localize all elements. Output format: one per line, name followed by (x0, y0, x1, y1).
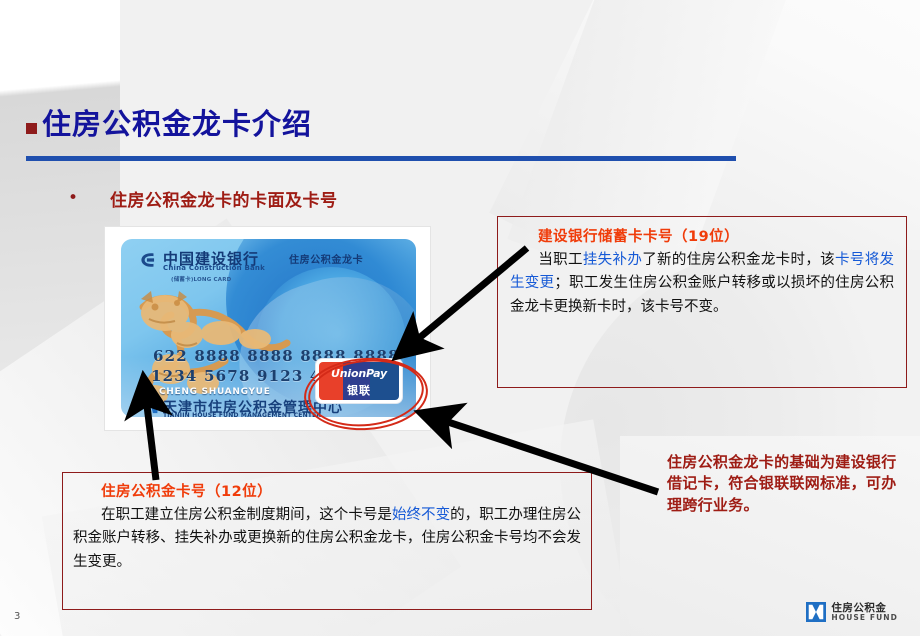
section-bullet-row: • 住房公积金龙卡的卡面及卡号 (68, 186, 338, 211)
footer-house-fund-logo: 住房公积金 HOUSE FUND (806, 602, 898, 622)
card-product-name: 住房公积金龙卡 (289, 251, 363, 266)
slide-title-row: 住房公积金龙卡介绍 (26, 110, 312, 139)
callout-bottom-body: 在职工建立住房公积金制度期间，这个卡号是始终不变的，职工办理住房公积金账户转移、… (73, 504, 581, 574)
footer-logo-text-cn: 住房公积金 (831, 603, 898, 614)
title-square-bullet-icon (26, 123, 37, 134)
card-photo-frame: 中国建设银行 China Construction Bank (储蓄卡)LONG… (105, 227, 430, 430)
callout-bottom-heading: 住房公积金卡号（12位） (101, 480, 581, 501)
card-holder-name: CHENG SHUANGYUE (159, 387, 271, 397)
callout-box-fund-card-number: 住房公积金卡号（12位） 在职工建立住房公积金制度期间，这个卡号是始终不变的，职… (62, 472, 592, 610)
house-fund-mark-icon (143, 395, 161, 415)
house-fund-logo-icon (806, 602, 826, 622)
page-number: 3 (14, 611, 20, 622)
ccb-logo-icon (137, 249, 159, 271)
bullet-dot-icon: • (68, 190, 78, 207)
unionpay-red-note: 住房公积金龙卡的基础为建设银行借记卡，符合银联联网标准，可办理跨行业务。 (667, 452, 902, 516)
card-bank-name-en: China Construction Bank (163, 264, 265, 272)
card-issuer-center-en: TIANJIN HOUSE FUND MANAGEMENT CENTER (163, 412, 321, 417)
callout-box-debit-card-number: 建设银行储蓄卡卡号（19位） 当职工挂失补办了新的住房公积金龙卡时，该卡号将发生… (497, 216, 907, 388)
callout-right-heading: 建设银行储蓄卡卡号（19位） (538, 225, 894, 246)
footer-logo-text-en: HOUSE FUND (831, 614, 898, 622)
callout-right-rich-text: 当职工挂失补办了新的住房公积金龙卡时，该卡号将发生变更；职工发生住房公积金账户转… (510, 252, 894, 315)
callout-bottom-rich-text: 在职工建立住房公积金制度期间，这个卡号是始终不变的，职工办理住房公积金账户转移、… (73, 507, 581, 570)
section-bullet-label: 住房公积金龙卡的卡面及卡号 (110, 186, 338, 211)
page-title: 住房公积金龙卡介绍 (42, 110, 312, 139)
title-underline-rule (26, 156, 736, 161)
callout-right-body: 当职工挂失补办了新的住房公积金龙卡时，该卡号将发生变更；职工发生住房公积金账户转… (510, 249, 894, 319)
